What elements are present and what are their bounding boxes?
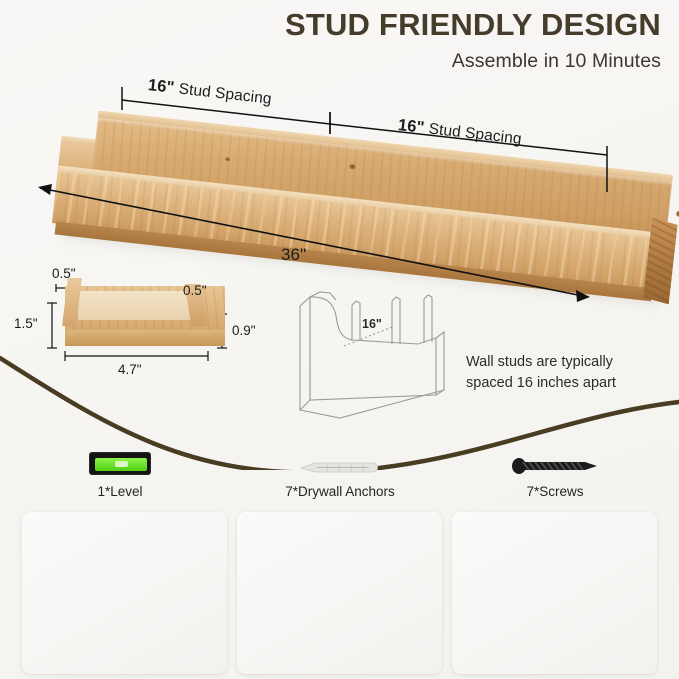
drywall-anchor-icon [245,448,435,478]
photo-drill-wall [237,512,442,674]
total-height-dimension: 1.5" [14,316,38,331]
shelf-length-label: 36" [281,245,306,265]
wood-knot-icon [675,211,679,218]
wood-knot-icon [349,164,357,170]
photo-wall-background [237,512,442,674]
wood-knot-icon [225,157,230,162]
hardware-list: 1*Level 7*Drywall Anchors [0,448,679,506]
hardware-label: 1*Level [25,484,215,499]
photo-level-shelf [22,512,227,674]
inner-height-dimension: 0.9" [232,323,256,338]
cross-section-base [65,330,225,346]
hardware-label: 7*Drywall Anchors [245,484,435,499]
screw-icon [460,448,650,478]
photo-screwdriver [452,512,657,674]
photo-wall-background [452,512,657,674]
level-vial [95,458,147,471]
stud-gap-label: 16" [362,317,382,331]
level-icon [25,448,215,478]
photo-wall-background [22,512,227,674]
page-title: STUD FRIENDLY DESIGN [285,8,661,43]
product-infographic: STUD FRIENDLY DESIGN Assemble in 10 Minu… [0,0,679,679]
hardware-item-screws: 7*Screws [460,448,650,499]
level-bubble [115,461,128,467]
hardware-label: 7*Screws [460,484,650,499]
installation-photos [0,512,679,679]
cross-section-inner-floor [78,291,196,320]
hardware-item-level: 1*Level [25,448,215,499]
lip-right-dimension: 0.5" [183,283,207,298]
hardware-item-anchors: 7*Drywall Anchors [245,448,435,499]
level-body [89,452,151,475]
lip-left-dimension: 0.5" [52,266,76,281]
